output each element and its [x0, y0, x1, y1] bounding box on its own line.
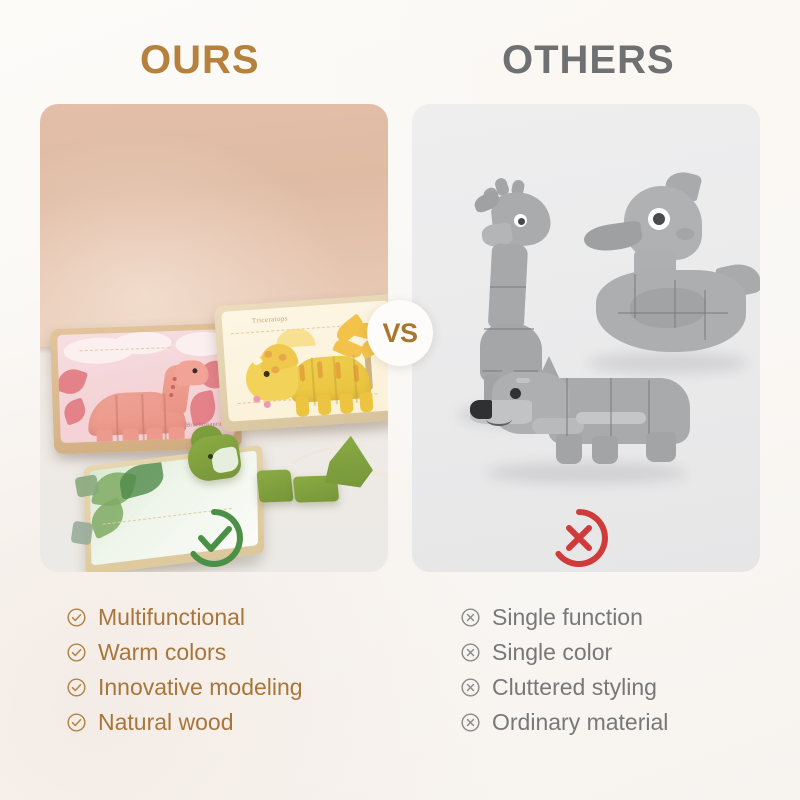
cross-circle-icon	[460, 642, 481, 663]
puzzle-seam	[674, 280, 676, 328]
puzzle-name-label: Triceratops	[252, 314, 289, 324]
loose-block	[71, 521, 94, 546]
feature-label: Cluttered styling	[492, 676, 657, 699]
others-product-photo	[412, 104, 760, 572]
dino-leg	[339, 393, 353, 414]
list-item: Innovative modeling	[66, 670, 303, 705]
brachiosaurus-figure	[80, 366, 211, 443]
list-item: Single function	[460, 600, 668, 635]
flower-shape	[253, 395, 260, 402]
list-item: Natural wood	[66, 705, 303, 740]
duck-pupil	[653, 213, 665, 225]
vs-badge: VS	[367, 300, 433, 366]
triceratops-figure	[239, 333, 382, 422]
puzzle-seam	[618, 312, 728, 314]
dino-leg	[359, 392, 373, 413]
green-puzzle-block	[256, 469, 293, 502]
check-circle-icon	[66, 712, 87, 733]
wolf-leg	[592, 436, 618, 464]
list-item: Cluttered styling	[460, 670, 668, 705]
list-item: Ordinary material	[460, 705, 668, 740]
check-circle-icon	[66, 607, 87, 628]
puzzle-seam	[566, 378, 568, 436]
loose-block	[74, 474, 99, 498]
ours-product-photo: Brachiosaurus	[40, 104, 388, 572]
wolf-leg	[556, 434, 582, 464]
check-circle-icon	[66, 677, 87, 698]
feature-label: Innovative modeling	[98, 676, 303, 699]
wolf-mouth	[486, 412, 512, 426]
list-item: Single color	[460, 635, 668, 670]
header-others: OTHERS	[502, 38, 675, 83]
cross-circle-icon	[460, 607, 481, 628]
dino-leg	[295, 396, 309, 417]
feature-label: Ordinary material	[492, 711, 668, 734]
puzzle-seam	[648, 380, 650, 434]
duck-cheek	[676, 228, 694, 240]
header-ours: OURS	[140, 38, 260, 83]
green-dino-eye	[208, 454, 213, 459]
flower-shape	[264, 401, 271, 408]
dino-stripe	[299, 364, 305, 381]
cross-circle-icon	[460, 712, 481, 733]
feature-label: Warm colors	[98, 641, 226, 664]
comparison-infographic: OURS OTHERS Brachiosaurus	[0, 0, 800, 800]
gray-wolf-puzzle	[470, 356, 700, 486]
headers-row: OURS OTHERS	[0, 38, 800, 96]
puzzle-seam	[490, 286, 526, 288]
check-circle-icon	[66, 642, 87, 663]
cross-circle-icon	[460, 677, 481, 698]
feature-label: Natural wood	[98, 711, 234, 734]
gray-duck-puzzle	[578, 170, 760, 370]
feature-label: Multifunctional	[98, 606, 245, 629]
dino-leg	[317, 395, 331, 416]
list-item: Warm colors	[66, 635, 303, 670]
cloud-shape	[113, 331, 172, 355]
wolf-leg	[646, 432, 676, 462]
list-item: Multifunctional	[66, 600, 303, 635]
puzzle-board-triceratops: Triceratops	[214, 294, 388, 432]
check-circle-icon	[182, 506, 246, 570]
features-list-ours: Multifunctional Warm colors Innovative m…	[66, 600, 303, 740]
wolf-eye	[510, 388, 521, 399]
dino-head	[174, 360, 209, 386]
puzzle-seam	[704, 290, 706, 340]
puzzle-seam	[610, 378, 612, 436]
wolf-brow	[516, 378, 530, 383]
features-list-others: Single function Single color Cluttered s…	[460, 600, 668, 740]
feature-label: Single color	[492, 641, 612, 664]
board-artwork: Triceratops	[221, 300, 388, 421]
giraffe-pupil	[518, 218, 525, 225]
puzzle-seam	[484, 328, 534, 330]
duck-wing	[630, 288, 706, 328]
cross-circle-icon	[547, 506, 611, 570]
feature-label: Single function	[492, 606, 643, 629]
dino-leg	[96, 429, 113, 443]
